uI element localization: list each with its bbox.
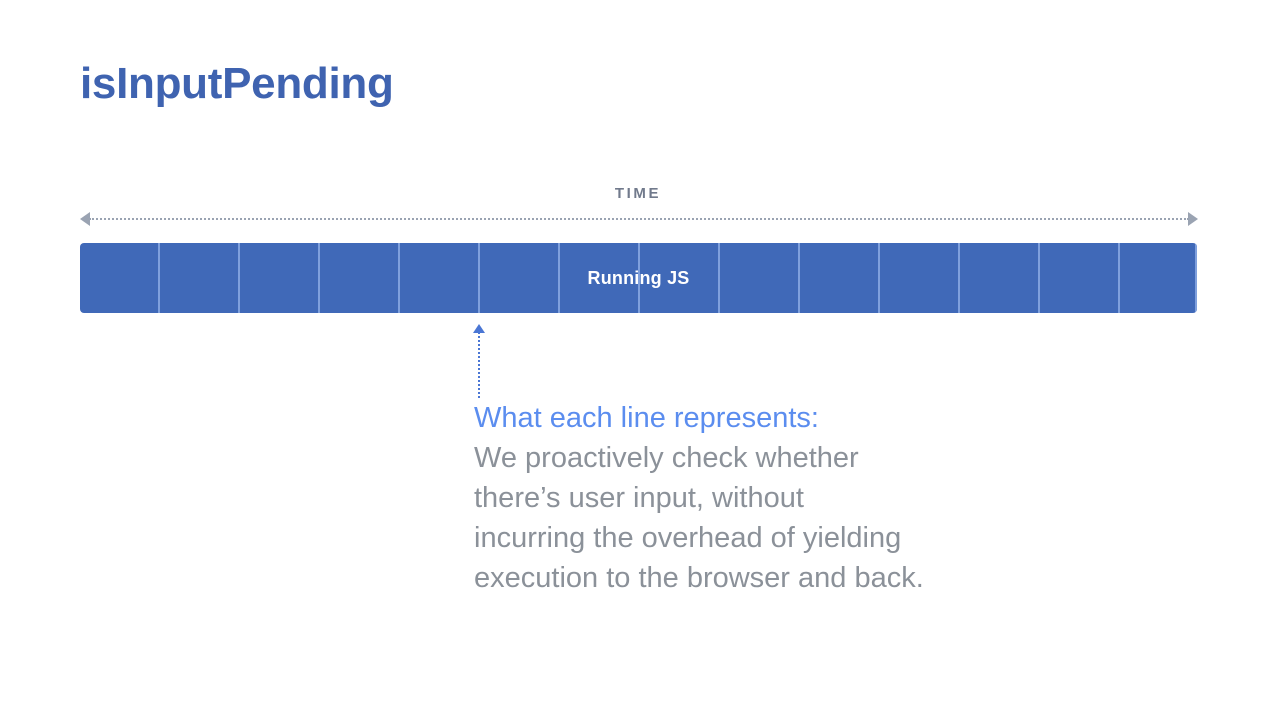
arrow-right-icon (1188, 212, 1198, 226)
callout-body-line: execution to the browser and back. (474, 558, 994, 598)
timeline-segment (1120, 243, 1197, 313)
timeline-segment (640, 243, 720, 313)
timeline-segment (880, 243, 960, 313)
timeline-segment (1040, 243, 1120, 313)
timeline-bar: Running JS (80, 243, 1197, 313)
time-axis-label: TIME (0, 185, 1276, 202)
callout-text-block: What each line represents: We proactivel… (474, 398, 994, 598)
timeline-segment (720, 243, 800, 313)
timeline-segment (240, 243, 320, 313)
slide-canvas: isInputPending TIME Running JS What each… (0, 0, 1276, 717)
timeline-segment (800, 243, 880, 313)
callout-body-line: We proactively check whether (474, 438, 994, 478)
time-axis-line (89, 218, 1189, 220)
callout-body: We proactively check whetherthere’s user… (474, 438, 994, 598)
timeline-segment (160, 243, 240, 313)
callout-connector (472, 324, 486, 398)
timeline-segment (560, 243, 640, 313)
callout-heading: What each line represents: (474, 398, 994, 438)
connector-dotted-line (478, 332, 480, 398)
timeline-segment (480, 243, 560, 313)
timeline-segment (80, 243, 160, 313)
callout-body-line: incurring the overhead of yielding (474, 518, 994, 558)
time-axis (80, 212, 1198, 226)
timeline-segment (400, 243, 480, 313)
timeline-segment (960, 243, 1040, 313)
timeline-segment (320, 243, 400, 313)
page-title: isInputPending (80, 58, 394, 111)
callout-body-line: there’s user input, without (474, 478, 994, 518)
